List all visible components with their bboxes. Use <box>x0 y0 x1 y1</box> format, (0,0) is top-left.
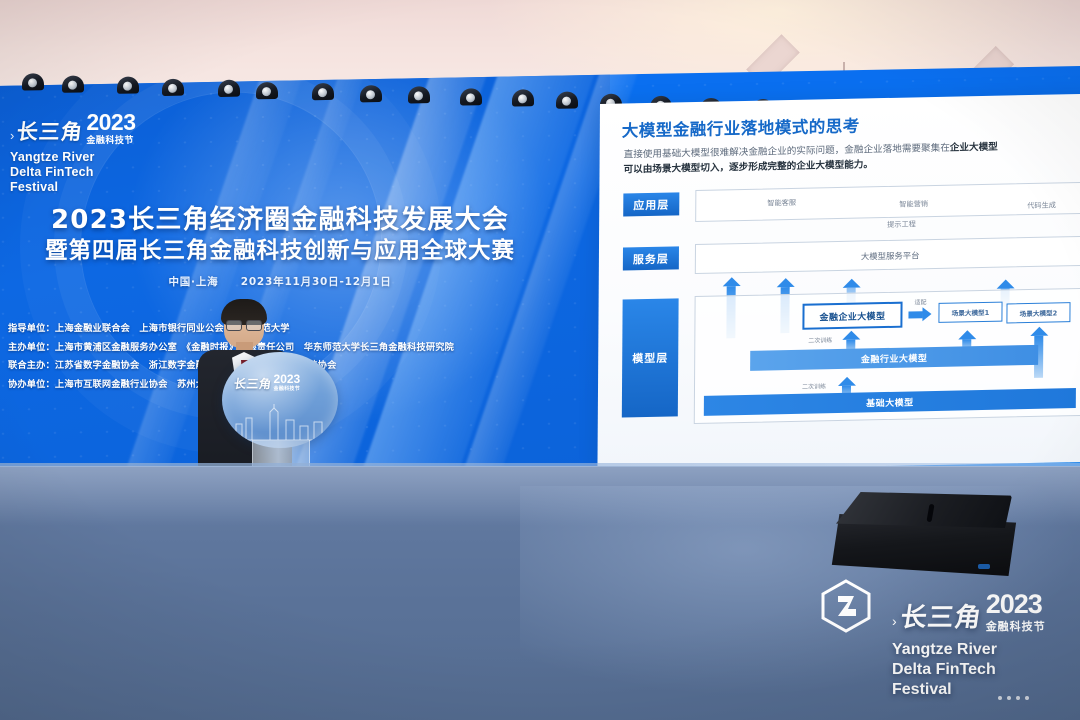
backdrop-title-block: 2023长三角经济圈金融科技发展大会 暨第四届长三角金融科技创新与应用全球大赛 … <box>0 204 560 289</box>
monitor-top-face <box>836 492 1012 528</box>
watermark-text-block: › 长三角 2023 金融科技节 Yangtze River Delta Fin… <box>892 592 1080 700</box>
watermark-english-line3: Festival <box>892 680 1080 700</box>
slide-layer-tag-application: 应用层 <box>623 192 679 216</box>
podium-skyline-graphic <box>230 404 330 442</box>
speaker-glasses <box>226 320 262 329</box>
stage-light-icon <box>256 82 278 99</box>
monitor-handle-slot <box>926 504 934 523</box>
monitor-indicator <box>978 564 990 569</box>
stage-light-icon <box>22 73 44 90</box>
presentation-slide: 大模型金融行业落地模式的思考 直接使用基础大模型很难解决金融企业的实际问题，金融… <box>597 94 1080 472</box>
slide-body-bold2: 可以由场景大模型切入，逐步形成完整的企业大模型能力。 <box>623 159 873 175</box>
slide-layer-tag-service: 服务层 <box>623 246 679 270</box>
stage-light-icon <box>408 86 430 103</box>
logo-arrow-icon: › <box>10 126 14 146</box>
podium-emblem: 长三角 2023 金融科技节 <box>222 352 338 448</box>
watermark-english-line2: Delta FinTech <box>892 660 1080 680</box>
slide-right-arrow <box>908 307 931 321</box>
stage-monitor-speaker <box>828 492 1020 584</box>
conference-location: 中国·上海 <box>168 276 218 288</box>
podium-logo-subtitle: 金融科技节 <box>274 385 301 392</box>
stage-light-icon <box>556 91 578 108</box>
watermark-arrow-icon: › <box>892 608 897 634</box>
logo-year: 2023 <box>86 112 135 132</box>
conference-dates: 2023年11月30日-12月1日 <box>241 276 392 288</box>
stage-light-icon <box>360 85 382 102</box>
stage-light-icon <box>162 79 184 96</box>
slide-arrow-label-adapt: 适配 <box>915 297 927 306</box>
watermark-chinese-name: 长三角 <box>898 597 984 634</box>
slide-app-item-1: 智能客服 <box>767 198 796 209</box>
slide-body-part1: 直接使用基础大模型很难解决金融企业的实际问题，金融企业落地需要聚集在 <box>624 143 950 161</box>
slide-arrow-label-retrain: 二次训练 <box>808 335 832 345</box>
watermark-year: 2023 <box>986 592 1046 616</box>
slide-body-bold1: 企业大模型 <box>950 142 998 154</box>
conference-title-line2: 暨第四届长三角金融科技创新与应用全球大赛 <box>0 236 560 266</box>
slide-enterprise-model-box: 金融企业大模型 <box>802 302 902 330</box>
logo-english-line2: Delta FinTech <box>10 165 145 180</box>
logo-subtitle-cn: 金融科技节 <box>86 133 135 146</box>
logo-chinese-name: 长三角 <box>16 116 85 146</box>
stage-light-icon <box>312 83 334 100</box>
stage-light-icon <box>218 80 240 97</box>
stage-light-icon <box>460 88 482 105</box>
slide-application-box <box>695 182 1080 222</box>
podium-emblem-logo: 长三角 2023 金融科技节 <box>234 374 326 392</box>
festival-logo: › 长三角 2023 金融科技节 Yangtze River Delta Fin… <box>10 112 145 195</box>
slide-layer-tag-model: 模型层 <box>622 298 679 417</box>
slide-app-sub-label: 提示工程 <box>887 219 916 230</box>
slide-body-text: 直接使用基础大模型很难解决金融企业的实际问题，金融企业落地需要聚集在企业大模型 … <box>623 138 1080 178</box>
slide-app-item-2: 智能营销 <box>899 199 928 210</box>
conference-stage-photo: › 长三角 2023 金融科技节 Yangtze River Delta Fin… <box>0 0 1080 720</box>
conference-title-line1: 2023长三角经济圈金融科技发展大会 <box>0 204 560 236</box>
podium-logo-chinese: 长三角 <box>233 375 273 392</box>
festival-badge-icon <box>818 578 874 634</box>
slide-scene-model-1: 场景大模型1 <box>938 302 1002 323</box>
slide-service-platform-label: 大模型服务平台 <box>861 249 920 262</box>
conference-location-date: 中国·上海 2023年11月30日-12月1日 <box>0 274 560 289</box>
slide-scene-model-2: 场景大模型2 <box>1006 302 1070 323</box>
slide-app-item-3: 代码生成 <box>1027 200 1056 211</box>
watermark-subtitle-cn: 金融科技节 <box>986 618 1046 634</box>
logo-english-line1: Yangtze River <box>10 150 145 165</box>
watermark-dots <box>998 696 1029 700</box>
watermark-english-line1: Yangtze River <box>892 640 1080 660</box>
slide-title: 大模型金融行业落地模式的思考 <box>622 113 860 142</box>
stage-light-icon <box>512 89 534 106</box>
stage-light-icon <box>62 75 84 92</box>
festival-watermark: › 长三角 2023 金融科技节 Yangtze River Delta Fin… <box>818 578 1080 708</box>
stage-light-icon <box>117 76 139 93</box>
podium-logo-year: 2023 <box>274 374 301 385</box>
slide-arrow-label-retrain: 二次训练 <box>802 381 826 391</box>
logo-english-line3: Festival <box>10 180 145 195</box>
